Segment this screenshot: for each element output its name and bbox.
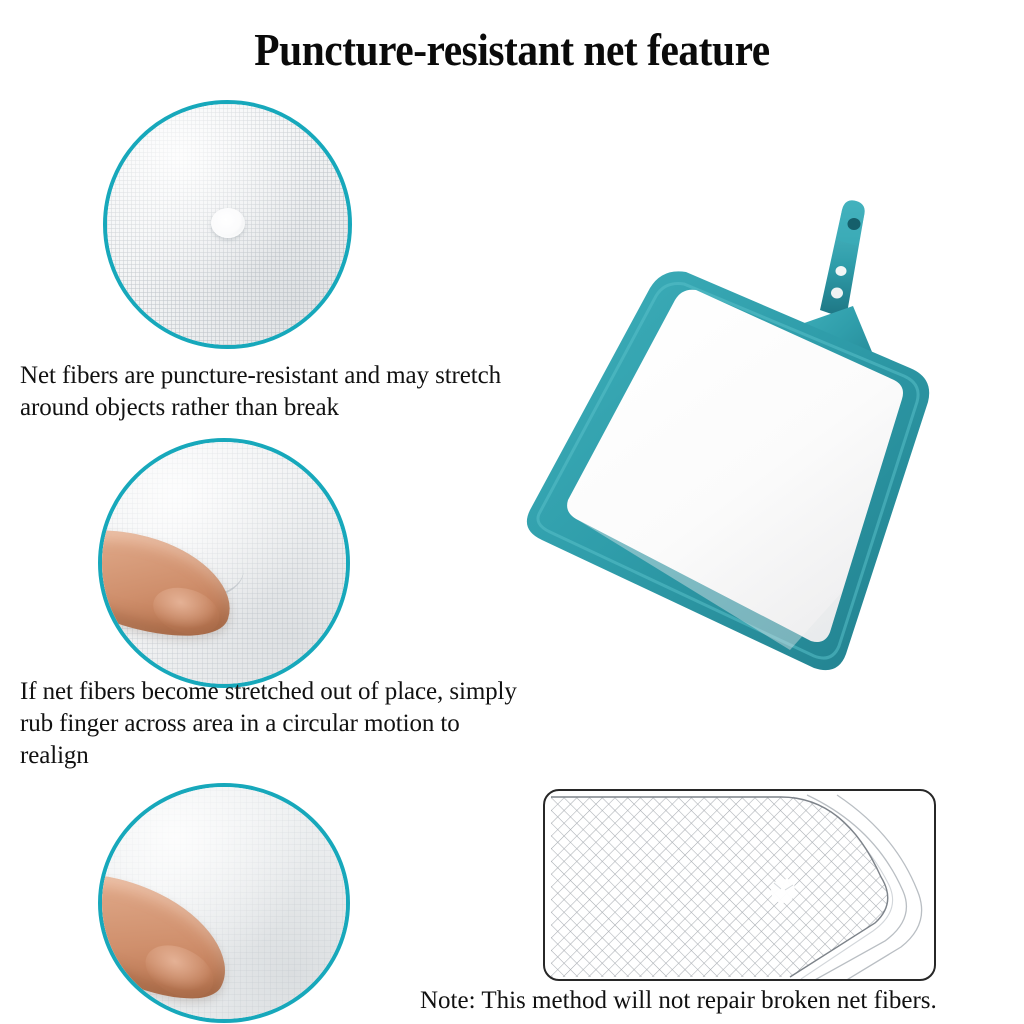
stretched-fiber-spot — [211, 208, 245, 238]
feature-1-circle-inset — [103, 100, 352, 349]
feature-1-caption: Net fibers are puncture-resistant and ma… — [20, 360, 520, 424]
realigned-fiber-burst-marker — [771, 879, 795, 903]
feature-2-caption: If net fibers become stretched out of pl… — [20, 676, 525, 772]
feature-3-circle-inset — [98, 783, 350, 1023]
note-text: Note: This method will not repair broken… — [420, 986, 1020, 1016]
page-title: Puncture-resistant net feature — [51, 22, 973, 78]
net-mesh-line-art — [545, 791, 936, 981]
feature-2-circle-inset — [98, 438, 350, 688]
pool-skimmer-net-image — [490, 180, 970, 725]
handle-socket — [820, 200, 865, 319]
infographic-page: Puncture-resistant net feature Net fiber… — [0, 0, 1024, 1024]
diagram-panel — [543, 789, 936, 981]
mesh-hatch-fill — [545, 791, 936, 981]
